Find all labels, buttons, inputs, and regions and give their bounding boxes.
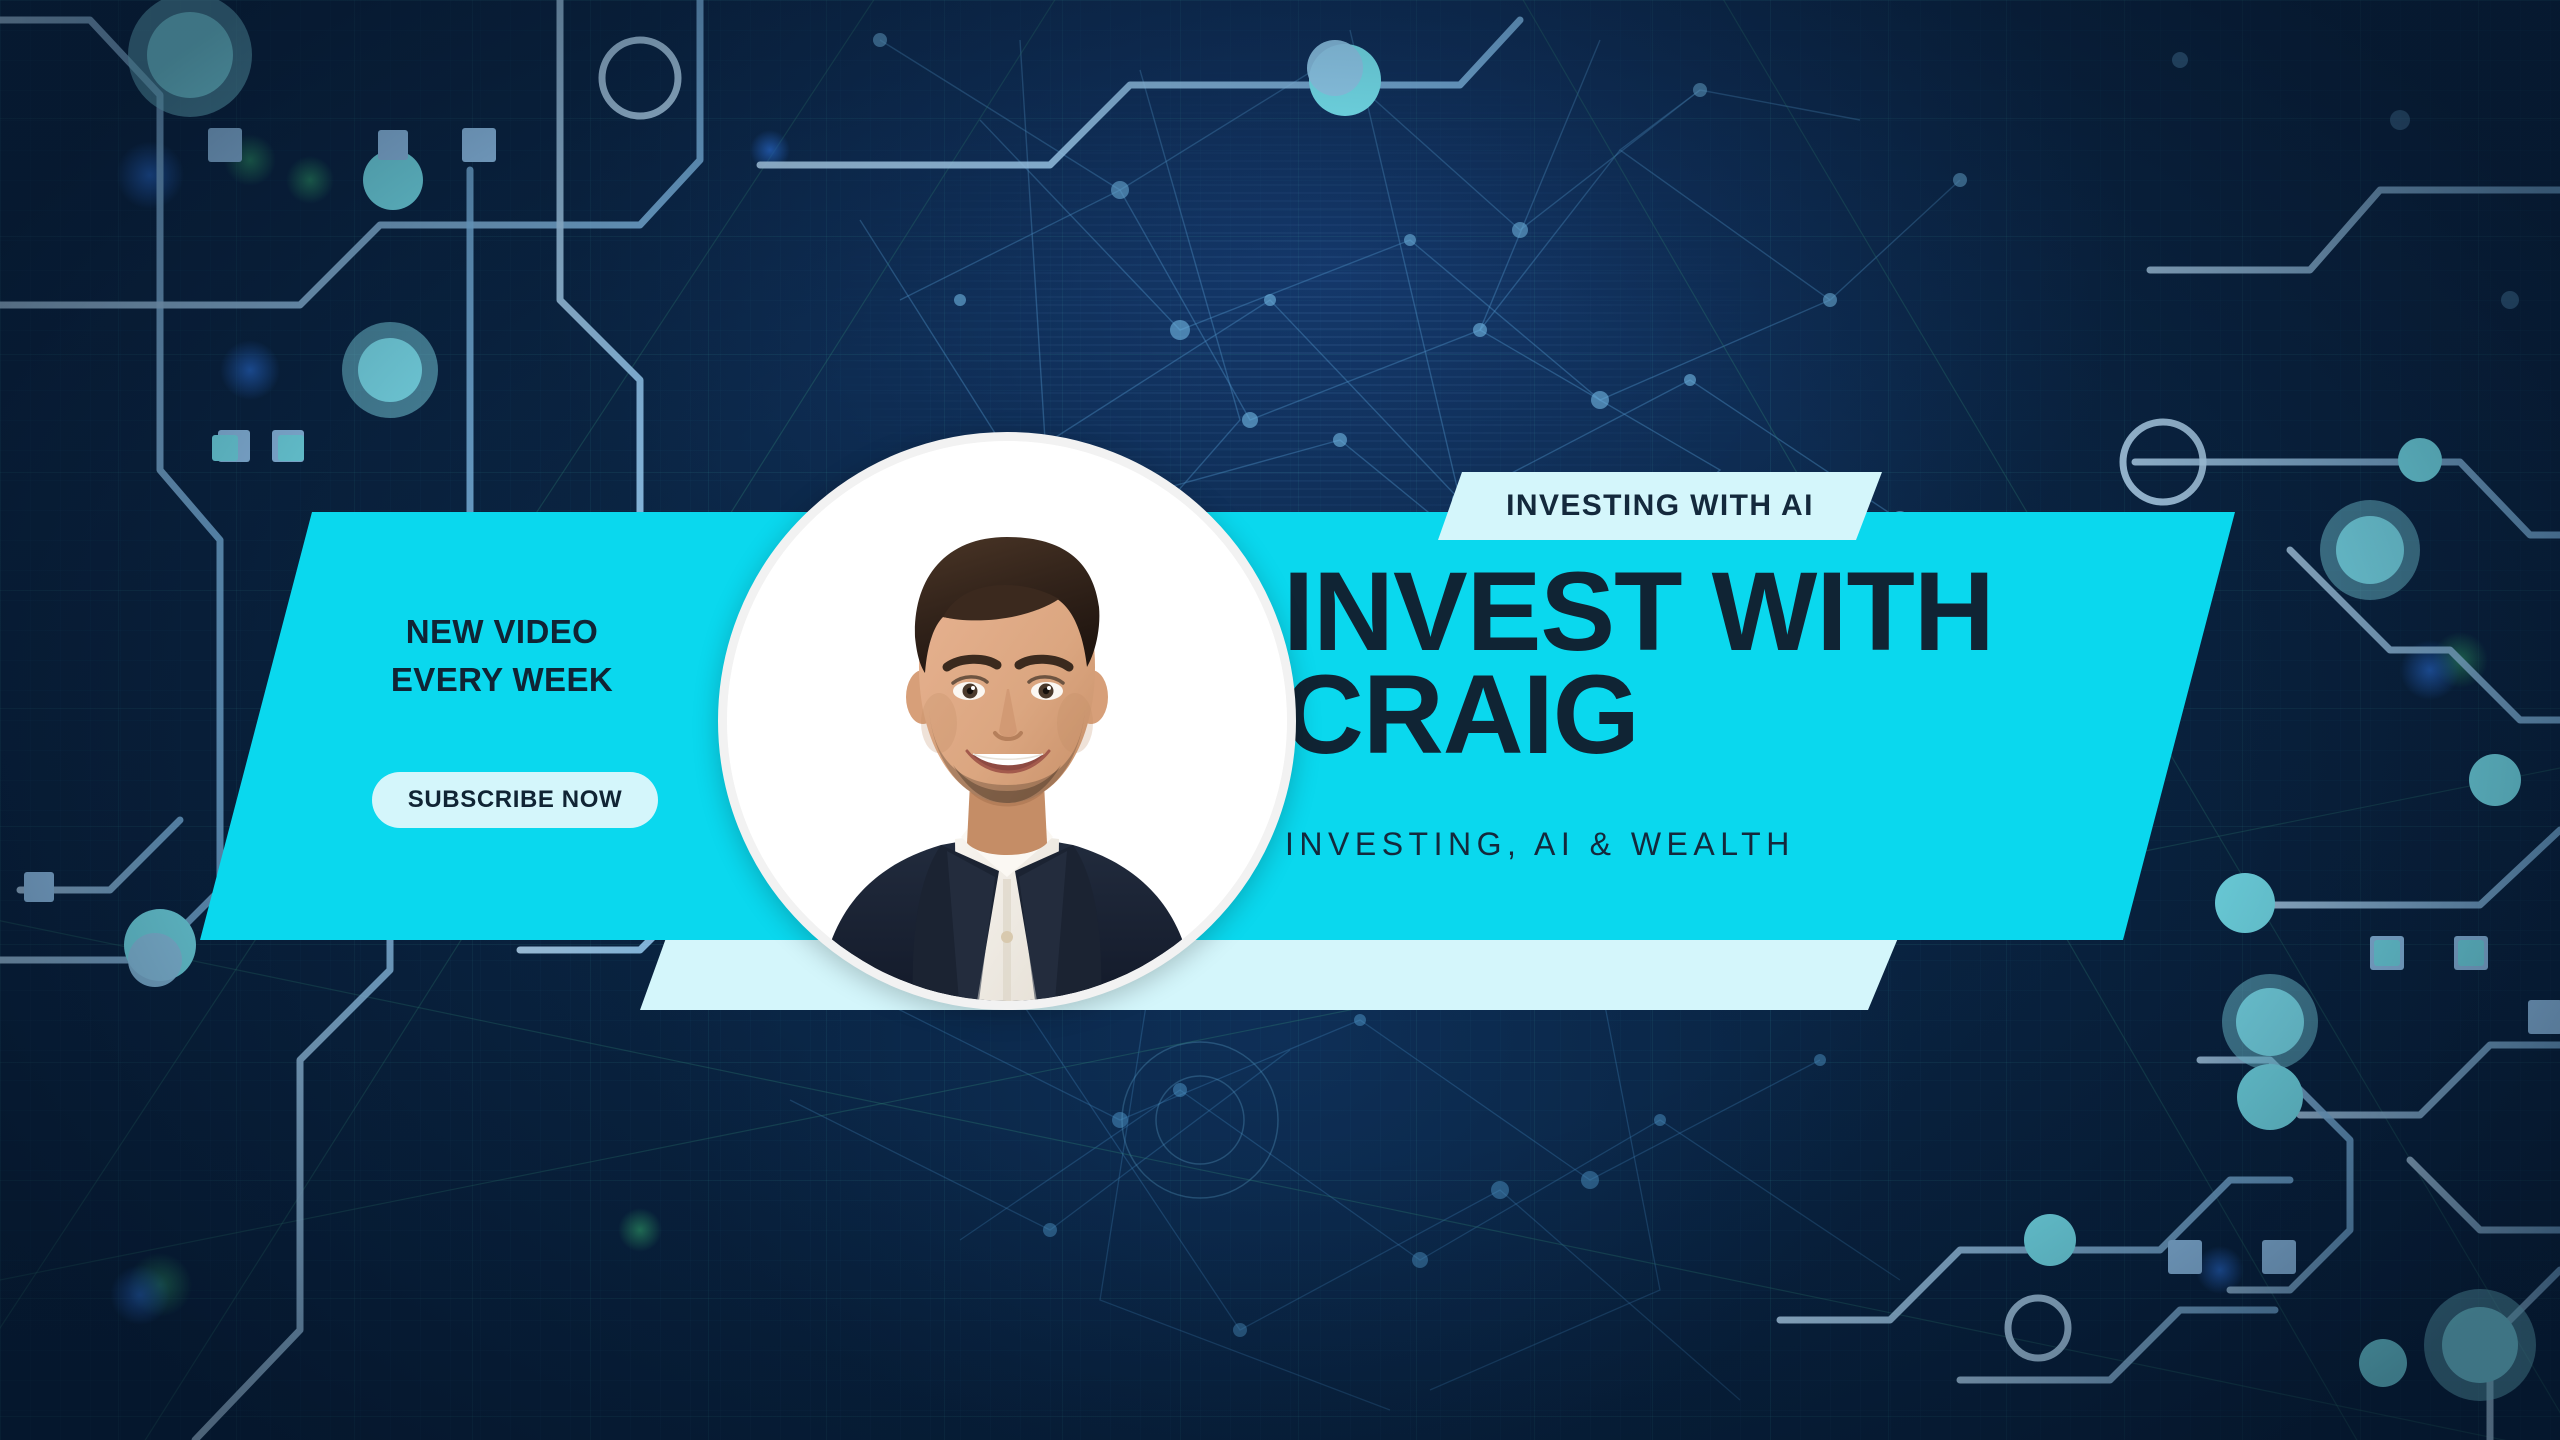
youtube-channel-banner: INVESTING WITH AI INVEST WITH CRAIG INVE…	[0, 0, 2560, 1440]
channel-title-line-2: CRAIG	[1283, 663, 1994, 766]
channel-title: INVEST WITH CRAIG	[1283, 560, 1994, 766]
avatar-photo	[727, 441, 1287, 1001]
upload-schedule-text: NEW VIDEO EVERY WEEK	[372, 608, 632, 704]
channel-tagline: INVESTING, AI & WEALTH	[1285, 826, 1795, 863]
upload-schedule-line-1: NEW VIDEO	[372, 608, 632, 656]
subscribe-button-label: SUBSCRIBE NOW	[408, 786, 622, 814]
eyebrow-badge: INVESTING WITH AI	[1438, 472, 1882, 540]
eyebrow-badge-label: INVESTING WITH AI	[1506, 489, 1814, 523]
upload-schedule-line-2: EVERY WEEK	[372, 656, 632, 704]
avatar	[718, 432, 1296, 1010]
subscribe-button[interactable]: SUBSCRIBE NOW	[372, 772, 658, 828]
